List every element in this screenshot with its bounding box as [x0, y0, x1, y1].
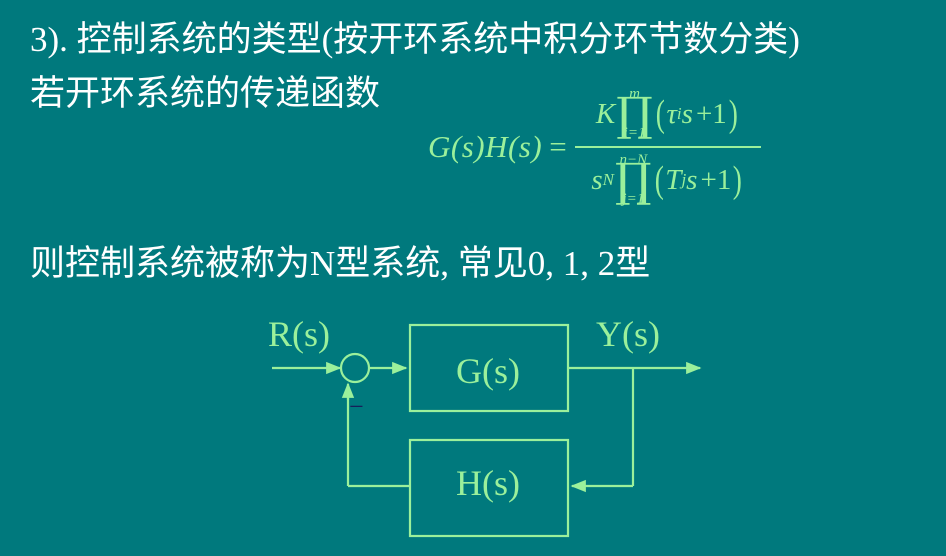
output-label-ys: Y(s)	[596, 313, 660, 355]
summing-junction	[341, 354, 369, 382]
negative-feedback-sign: −	[349, 394, 364, 420]
input-label-rs: R(s)	[268, 313, 330, 355]
feedback-block-label-hs: H(s)	[456, 462, 520, 504]
forward-block-label-gs: G(s)	[456, 350, 520, 392]
slide-canvas: 3). 控制系统的类型(按开环系统中积分环节数分类) 若开环系统的传递函数 则控…	[0, 0, 946, 556]
